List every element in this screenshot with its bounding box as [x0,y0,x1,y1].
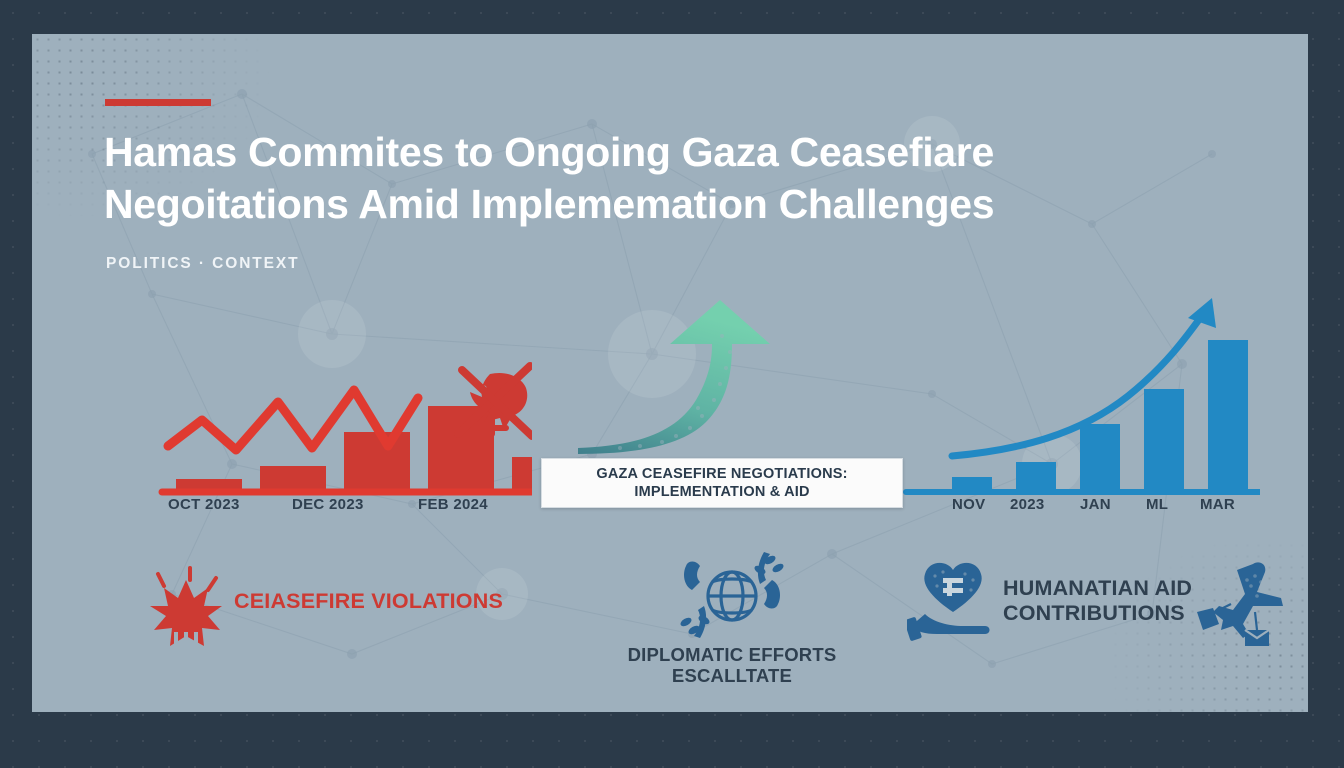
caption-left-text: CEIASEFIRE VIOLATIONS [234,589,503,614]
green-growth-arrow-icon [570,296,800,466]
caption-middle-text: DIPLOMATIC EFFORTS ESCALLTATE [592,644,872,687]
caption-middle-line-1: DIPLOMATIC EFFORTS [592,644,872,665]
humanitarian-aid-chart: NOV 2023 JAN ML MAR [900,284,1260,524]
aid-tick-2: JAN [1080,496,1111,513]
violations-trend-line [168,390,418,450]
center-label-line-1: GAZA CEASEFIRE NEGOTIATIONS: [596,465,847,483]
aid-tick-4: MAR [1200,496,1235,513]
center-label-box: GAZA CEASEFIRE NEGOTIATIONS: IMPLEMENTAT… [541,458,903,508]
aid-chart-svg [900,284,1260,524]
accent-bar [105,99,211,106]
caption-middle-line-2: ESCALLTATE [592,665,872,686]
violations-chart-svg [132,324,532,524]
caption-humanitarian-aid: HUMANATIAN AID CONTRIBUTIONS [907,554,1287,664]
dove-no-peace-icon [458,366,532,436]
caption-right-line-2: CONTRIBUTIONS [1003,601,1192,626]
infographic-canvas: Hamas Commites to Ongoing Gaza Ceasefiar… [0,0,1344,768]
caption-right-line-1: HUMANATIAN AID [1003,576,1192,601]
kicker-label: POLITICS · CONTEXT [106,255,300,273]
aid-tick-3: ML [1146,496,1168,513]
title-line-2: Negoitations Amid Implememation Challeng… [104,178,1114,230]
title-line-1: Hamas Commites to Ongoing Gaza Ceasefiar… [104,126,1114,178]
aid-tick-1: 2023 [1010,496,1045,513]
hand-heart-icon [907,556,999,642]
violations-tick-1: DEC 2023 [292,496,364,513]
ceasefire-violations-chart: OCT 2023 DEC 2023 FEB 2024 [132,324,532,524]
center-label-line-2: IMPLEMENTATION & AID [634,483,809,501]
content-panel: Hamas Commites to Ongoing Gaza Ceasefiar… [32,34,1308,712]
caption-diplomatic-efforts: DIPLOMATIC EFFORTS ESCALLTATE [592,546,872,706]
caption-right-text: HUMANATIAN AID CONTRIBUTIONS [1003,576,1192,625]
explosion-icon [144,566,228,652]
globe-hands-olive-icon [662,546,802,646]
airplane-aid-drop-icon [1195,554,1289,646]
violations-tick-0: OCT 2023 [168,496,240,513]
violations-tick-2: FEB 2024 [418,496,488,513]
caption-ceasefire-violations: CEIASEFIRE VIOLATIONS [144,556,544,666]
aid-tick-0: NOV [952,496,985,513]
page-title: Hamas Commites to Ongoing Gaza Ceasefiar… [104,126,1114,231]
